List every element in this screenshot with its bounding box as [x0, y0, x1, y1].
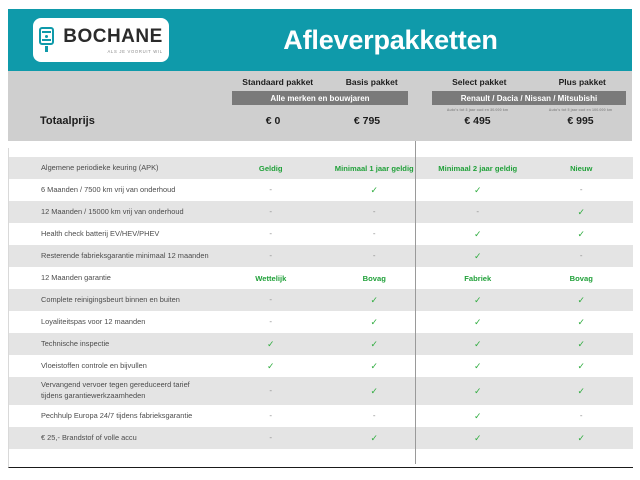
- value-text: Nieuw: [530, 164, 634, 173]
- check-icon: ✓: [530, 317, 634, 328]
- table-top-spacer: [9, 148, 633, 157]
- value-text: Geldig: [219, 164, 323, 173]
- check-icon: ✓: [323, 386, 427, 397]
- value-cells: -✓✓✓: [219, 295, 633, 306]
- check-icon: ✓: [323, 361, 427, 372]
- table-row: Complete reinigingsbeurt binnen en buite…: [9, 289, 633, 311]
- check-icon: ✓: [530, 229, 634, 240]
- table-row: Pechhulp Europa 24/7 tijdens fabrieksgar…: [9, 405, 633, 427]
- package-header-band: Standaard pakket Basis pakket Alle merke…: [8, 71, 632, 141]
- dash-icon: -: [219, 317, 323, 328]
- feature-label: Pechhulp Europa 24/7 tijdens fabrieksgar…: [9, 411, 219, 422]
- dash-icon: -: [530, 411, 634, 422]
- dash-icon: -: [219, 411, 323, 422]
- price-select: € 495: [426, 115, 529, 127]
- feature-label: Resterende fabrieksgarantie minimaal 12 …: [9, 251, 219, 262]
- feature-label: Vloeistoffen controle en bijvullen: [9, 361, 219, 372]
- table-row: Vervangend vervoer tegen gereduceerd tar…: [9, 377, 633, 405]
- value-text: Bovag: [530, 274, 634, 283]
- value-cells: -✓✓-: [219, 185, 633, 196]
- dash-icon: -: [219, 207, 323, 218]
- feature-label: Technische inspectie: [9, 339, 219, 350]
- dash-icon: -: [219, 229, 323, 240]
- table-row: 12 Maanden garantieWettelijkBovagFabriek…: [9, 267, 633, 289]
- feature-label: Vervangend vervoer tegen gereduceerd tar…: [9, 380, 219, 401]
- dash-icon: -: [530, 251, 634, 262]
- check-icon: ✓: [530, 433, 634, 444]
- value-text: Minimaal 1 jaar geldig: [323, 164, 427, 173]
- feature-label: 12 Maanden garantie: [9, 273, 219, 284]
- value-cells: -✓✓✓: [219, 317, 633, 328]
- price-plus: € 995: [529, 115, 632, 127]
- package-group-right: Select pakket Plus pakket Renault / Daci…: [426, 77, 632, 112]
- price-basis: € 795: [320, 115, 414, 127]
- check-icon: ✓: [426, 386, 530, 397]
- bochane-mark-icon: [39, 27, 58, 53]
- dash-icon: -: [323, 251, 427, 262]
- table-row: € 25,- Brandstof of volle accu-✓✓✓: [9, 427, 633, 449]
- page-banner: BOCHANE ALS JE VOORUIT WIL Afleverpakket…: [8, 9, 632, 71]
- value-cells: -✓✓✓: [219, 386, 633, 397]
- value-cells: --✓-: [219, 251, 633, 262]
- value-cells: ---✓: [219, 207, 633, 218]
- check-icon: ✓: [530, 207, 634, 218]
- check-icon: ✓: [323, 295, 427, 306]
- check-icon: ✓: [323, 339, 427, 350]
- table-bottom-spacer: [9, 449, 633, 467]
- value-cells: ✓✓✓✓: [219, 339, 633, 350]
- table-row: 12 Maanden / 15000 km vrij van onderhoud…: [9, 201, 633, 223]
- feature-label: Algemene periodieke keuring (APK): [9, 163, 219, 174]
- check-icon: ✓: [530, 361, 634, 372]
- value-text: Fabriek: [426, 274, 530, 283]
- feature-label: Loyaliteitspas voor 12 maanden: [9, 317, 219, 328]
- value-cells: WettelijkBovagFabriekBovag: [219, 274, 633, 283]
- feature-label: Health check batterij EV/HEV/PHEV: [9, 229, 219, 240]
- check-icon: ✓: [426, 411, 530, 422]
- dash-icon: -: [426, 207, 530, 218]
- price-row-left: € 0 € 795: [226, 115, 414, 127]
- dash-icon: -: [323, 229, 427, 240]
- price-standaard: € 0: [226, 115, 320, 127]
- check-icon: ✓: [426, 361, 530, 372]
- check-icon: ✓: [426, 229, 530, 240]
- package-name-plus: Plus pakket: [559, 77, 606, 87]
- group-divider: [415, 141, 416, 464]
- table-row: Resterende fabrieksgarantie minimaal 12 …: [9, 245, 633, 267]
- dash-icon: -: [323, 411, 427, 422]
- table-row: Vloeistoffen controle en bijvullen✓✓✓✓: [9, 355, 633, 377]
- table-row: Technische inspectie✓✓✓✓: [9, 333, 633, 355]
- check-icon: ✓: [530, 295, 634, 306]
- check-icon: ✓: [530, 339, 634, 350]
- dash-icon: -: [219, 386, 323, 397]
- dash-icon: -: [219, 185, 323, 196]
- afleverpakketten-sheet: BOCHANE ALS JE VOORUIT WIL Afleverpakket…: [0, 0, 640, 480]
- dash-icon: -: [219, 295, 323, 306]
- check-icon: ✓: [219, 339, 323, 350]
- package-group-left: Standaard pakket Basis pakket Alle merke…: [226, 77, 414, 108]
- value-cells: --✓-: [219, 411, 633, 422]
- value-text: Minimaal 2 jaar geldig: [426, 164, 530, 173]
- value-cells: ✓✓✓✓: [219, 361, 633, 372]
- feature-label: Complete reinigingsbeurt binnen en buite…: [9, 295, 219, 306]
- check-icon: ✓: [426, 317, 530, 328]
- check-icon: ✓: [530, 386, 634, 397]
- feature-label: € 25,- Brandstof of volle accu: [9, 433, 219, 444]
- table-row: Algemene periodieke keuring (APK)GeldigM…: [9, 157, 633, 179]
- brand-name: BOCHANE: [63, 27, 163, 46]
- dash-icon: -: [219, 433, 323, 444]
- check-icon: ✓: [219, 361, 323, 372]
- package-scope-right: Renault / Dacia / Nissan / Mitsubishi: [432, 91, 626, 105]
- price-row-right: € 495 € 995: [426, 115, 632, 127]
- check-icon: ✓: [426, 295, 530, 306]
- package-name-basis: Basis pakket: [346, 77, 398, 87]
- check-icon: ✓: [426, 185, 530, 196]
- package-name-select: Select pakket: [452, 77, 506, 87]
- table-row: Health check batterij EV/HEV/PHEV--✓✓: [9, 223, 633, 245]
- feature-comparison-table: Algemene periodieke keuring (APK)GeldigM…: [8, 148, 633, 468]
- value-text: Bovag: [323, 274, 427, 283]
- value-cells: -✓✓✓: [219, 433, 633, 444]
- dash-icon: -: [530, 185, 634, 196]
- value-cells: --✓✓: [219, 229, 633, 240]
- dash-icon: -: [219, 251, 323, 262]
- page-title: Afleverpakketten: [169, 25, 612, 56]
- check-icon: ✓: [323, 433, 427, 444]
- check-icon: ✓: [426, 339, 530, 350]
- feature-label: 6 Maanden / 7500 km vrij van onderhoud: [9, 185, 219, 196]
- feature-label: 12 Maanden / 15000 km vrij van onderhoud: [9, 207, 219, 218]
- value-cells: GeldigMinimaal 1 jaar geldigMinimaal 2 j…: [219, 164, 633, 173]
- brand-tagline: ALS JE VOORUIT WIL: [107, 49, 162, 54]
- check-icon: ✓: [426, 433, 530, 444]
- dash-icon: -: [323, 207, 427, 218]
- value-text: Wettelijk: [219, 274, 323, 283]
- check-icon: ✓: [323, 317, 427, 328]
- check-icon: ✓: [323, 185, 427, 196]
- total-price-label: Totaalprijs: [40, 115, 95, 127]
- package-name-standaard: Standaard pakket: [242, 77, 313, 87]
- package-sub-plus: Auto's tot 5 jaar oud en 100.000 km: [529, 108, 632, 112]
- package-scope-left: Alle merken en bouwjaren: [232, 91, 408, 105]
- table-row: Loyaliteitspas voor 12 maanden-✓✓✓: [9, 311, 633, 333]
- table-row: 6 Maanden / 7500 km vrij van onderhoud-✓…: [9, 179, 633, 201]
- package-sub-select: Auto's tot 3 jaar oud en 30.000 km: [426, 108, 529, 112]
- bochane-logo[interactable]: BOCHANE ALS JE VOORUIT WIL: [33, 18, 169, 62]
- check-icon: ✓: [426, 251, 530, 262]
